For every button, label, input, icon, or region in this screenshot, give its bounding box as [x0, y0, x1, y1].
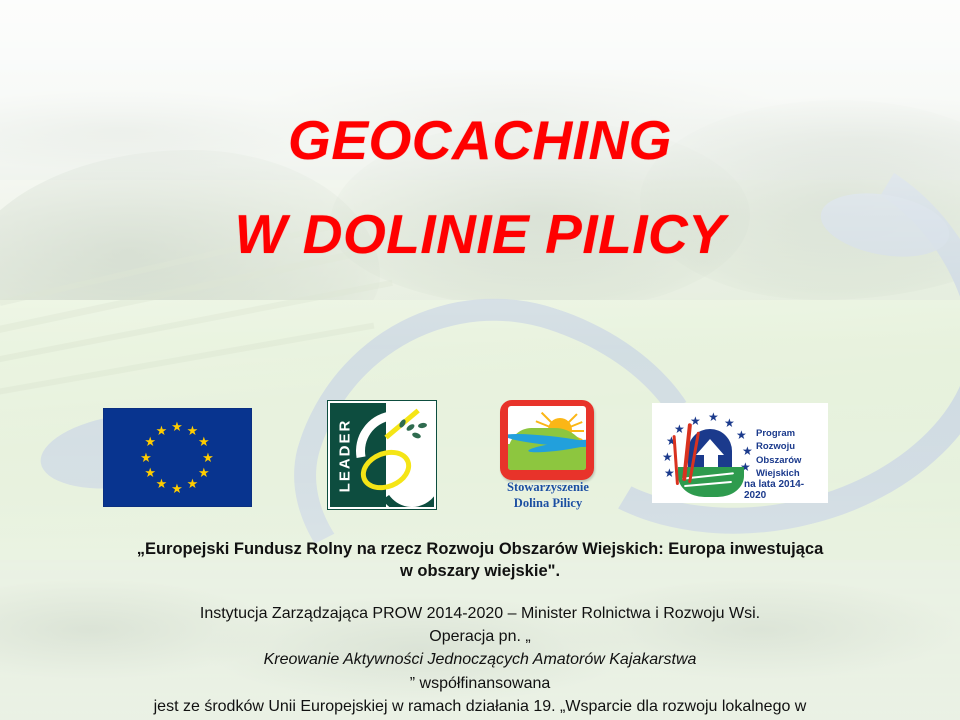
logo-row: ★★★★★★★★★★★★ LEADER — [0, 398, 960, 518]
sdp-wordmark-line-2: Dolina Pilicy — [492, 496, 604, 512]
stowarzyszenie-dolina-pilicy-logo: Stowarzyszenie Dolina Pilicy — [492, 400, 604, 516]
sdp-wordmark: Stowarzyszenie Dolina Pilicy — [492, 480, 604, 511]
eu-star-icon: ★ — [171, 420, 184, 433]
prow-wordmark-line-3: Obszarów — [756, 454, 826, 467]
prow-wordmark-line-1: Program — [756, 427, 826, 440]
prow-years-label: na lata 2014-2020 — [744, 479, 826, 501]
eu-star-icon: ★ — [197, 435, 210, 448]
eu-star-icon: ★ — [155, 424, 168, 437]
prow-emblem-icon: ★ ★ ★ ★ ★ ★ ★ ★ ★ ★ — [660, 409, 752, 497]
sdp-red-frame — [500, 400, 594, 480]
leader-wordmark: LEADER — [332, 403, 358, 507]
eu-star-icon: ★ — [155, 477, 168, 490]
eu-flag-logo: ★★★★★★★★★★★★ — [103, 408, 252, 507]
eu-star-icon: ★ — [202, 451, 215, 464]
sdp-wordmark-line-1: Stowarzyszenie — [492, 480, 604, 496]
eu-stars-circle: ★★★★★★★★★★★★ — [104, 409, 251, 506]
disclaimer-line-3: jest ze środków Unii Europejskiej w rama… — [24, 695, 936, 718]
eu-star-icon: ★ — [186, 477, 199, 490]
prow-roof-icon — [696, 439, 724, 455]
prow-star-icon: ★ — [736, 429, 747, 441]
eu-star-icon: ★ — [140, 451, 153, 464]
operation-name-italic: Kreowanie Aktywności Jednoczących Amator… — [24, 648, 936, 671]
prow-star-icon: ★ — [724, 417, 735, 429]
disclaimer-line-2-before: Operacja pn. „ — [24, 625, 936, 648]
prow-star-icon: ★ — [664, 467, 675, 479]
eu-star-icon: ★ — [144, 435, 157, 448]
prow-logo: ★ ★ ★ ★ ★ ★ ★ ★ ★ ★ Progr — [652, 403, 828, 503]
prow-star-icon: ★ — [742, 445, 753, 457]
prow-wordmark-line-2: Rozwoju — [756, 440, 826, 453]
disclaimer-line-2: Operacja pn. „Kreowanie Aktywności Jedno… — [24, 625, 936, 695]
funding-disclaimer: Instytucja Zarządzająca PROW 2014-2020 –… — [24, 602, 936, 720]
eu-star-icon: ★ — [197, 466, 210, 479]
prow-star-icon: ★ — [662, 451, 673, 463]
slogan-line-2: w obszary wiejskie". — [16, 560, 944, 582]
disclaimer-line-1: Instytucja Zarządzająca PROW 2014-2020 –… — [24, 602, 936, 625]
eu-star-icon: ★ — [171, 482, 184, 495]
slogan-line-1: „Europejski Fundusz Rolny na rzecz Rozwo… — [16, 538, 944, 560]
presentation-slide: GEOCACHING W DOLINIE PILICY ★★★★★★★★★★★★… — [0, 0, 960, 720]
eu-fund-slogan: „Europejski Fundusz Rolny na rzecz Rozwo… — [16, 538, 944, 582]
sdp-landscape-icon — [508, 406, 586, 470]
prow-star-icon: ★ — [708, 411, 719, 423]
eu-star-icon: ★ — [144, 466, 157, 479]
leader-logo: LEADER — [328, 401, 436, 509]
leader-wordmark-text: LEADER — [337, 418, 354, 492]
prow-wordmark: Program Rozwoju Obszarów Wiejskich — [756, 427, 826, 481]
disclaimer-line-2-after: ” współfinansowana — [24, 672, 936, 695]
prow-star-icon: ★ — [674, 423, 685, 435]
